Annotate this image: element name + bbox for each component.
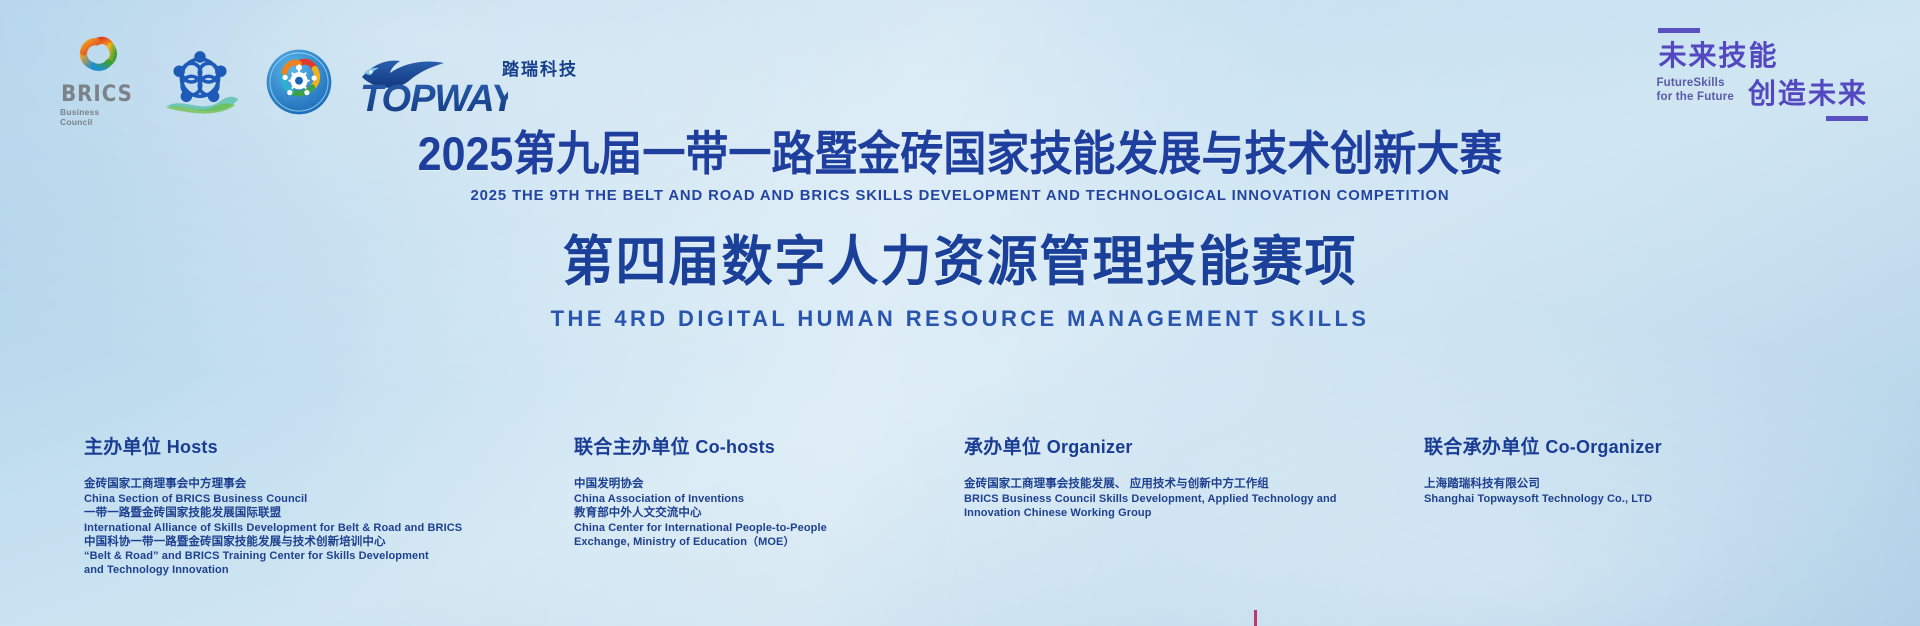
organizer-line: BRICS Business Council Skills Developmen… [964, 492, 1424, 506]
topway-logo: TOPWAY 踏瑞科技 [358, 47, 578, 117]
organizer-line: International Alliance of Skills Develop… [84, 521, 574, 535]
brics-star-icon [73, 36, 121, 82]
organizer-line: 金砖国家工商理事会技能发展、 应用技术与创新中方工作组 [964, 477, 1424, 492]
slogan-english: FutureSkills for the Future [1656, 76, 1734, 108]
organizer-line: Exchange, Ministry of Education（MOE） [574, 535, 964, 549]
sponsor-logo-row: BRICS Business Council [60, 36, 578, 127]
organizer-line: 中国发明协会 [574, 477, 964, 492]
organizer-line: “Belt & Road” and BRICS Training Center … [84, 549, 574, 563]
slogan-line-1: 未来技能 [1656, 42, 1868, 70]
organizer-column-cohosts: 联合主办单位 Co-hosts 中国发明协会 China Association… [574, 432, 964, 577]
organizer-heading-cn: 联合主办单位 [574, 437, 690, 458]
slogan-english-line-1: FutureSkills [1656, 76, 1734, 90]
organizer-heading: 承办单位 Organizer [964, 432, 1424, 459]
organizer-line: 教育部中外人文交流中心 [574, 506, 964, 521]
organizer-line: 金砖国家工商理事会中方理事会 [84, 477, 574, 492]
organizer-heading-cn: 联合承办单位 [1424, 437, 1540, 458]
organizer-heading-cn: 承办单位 [964, 437, 1041, 458]
organizer-line: China Association of Inventions [574, 492, 964, 506]
main-title-english: 2025 THE 9TH THE BELT AND ROAD AND BRICS… [10, 187, 1911, 204]
brics-wordmark: BRICS [61, 84, 133, 106]
future-skills-slogan: 未来技能 FutureSkills for the Future 创造未来 [1656, 28, 1868, 121]
organizer-heading-cn: 主办单位 [84, 437, 161, 458]
organizer-heading-en: Co-hosts [695, 437, 775, 457]
organizer-line: 一带一路暨金砖国家技能发展国际联盟 [84, 506, 574, 521]
organizer-line: China Section of BRICS Business Council [84, 492, 574, 506]
organizer-line: Shanghai Topwaysoft Technology Co., LTD [1424, 492, 1844, 506]
organizer-heading-en: Co-Organizer [1545, 437, 1661, 457]
slogan-rule-top [1658, 28, 1700, 33]
event-title-english: THE 4RD DIGITAL HUMAN RESOURCE MANAGEMEN… [0, 306, 1920, 332]
slogan-rule-bottom [1826, 116, 1868, 121]
organizer-line: 中国科协一带一路暨金砖国家技能发展与技术创新培训中心 [84, 535, 574, 550]
brics-business-council-logo: BRICS Business Council [60, 36, 134, 127]
organizer-heading-en: Hosts [167, 437, 218, 457]
organizer-columns: 主办单位 Hosts 金砖国家工商理事会中方理事会 China Section … [0, 432, 1920, 577]
main-title-chinese: 2025第九届一带一路暨金砖国家技能发展与技术创新大赛 [0, 128, 1920, 181]
organizer-column-hosts: 主办单位 Hosts 金砖国家工商理事会中方理事会 China Section … [84, 432, 574, 577]
slogan-english-line-2: for the Future [1656, 90, 1734, 104]
organizer-heading-en: Organizer [1047, 437, 1133, 457]
organizer-line: 上海踏瑞科技有限公司 [1424, 477, 1844, 492]
organizer-heading: 联合主办单位 Co-hosts [574, 432, 964, 459]
organizer-heading: 主办单位 Hosts [84, 432, 574, 459]
title-block: 2025第九届一带一路暨金砖国家技能发展与技术创新大赛 2025 THE 9TH… [0, 128, 1920, 332]
organizer-column-coorganizer: 联合承办单位 Co-Organizer 上海踏瑞科技有限公司 Shanghai … [1424, 432, 1844, 577]
topway-dragon-wordmark-icon: TOPWAY [358, 47, 508, 117]
organizer-heading: 联合承办单位 Co-Organizer [1424, 432, 1844, 459]
organizer-line: Innovation Chinese Working Group [964, 506, 1424, 520]
event-title-chinese: 第四届数字人力资源管理技能赛项 [0, 232, 1920, 291]
svg-text:TOPWAY: TOPWAY [360, 78, 508, 117]
training-center-logo [266, 49, 332, 115]
topway-chinese-name: 踏瑞科技 [502, 55, 578, 80]
organizer-column-organizer: 承办单位 Organizer 金砖国家工商理事会技能发展、 应用技术与创新中方工… [964, 432, 1424, 577]
bottom-marker [1254, 610, 1257, 626]
competition-banner: BRICS Business Council [0, 0, 1920, 626]
slogan-line-2: 创造未来 [1748, 80, 1868, 108]
organizer-line: China Center for International People-to… [574, 521, 964, 535]
brics-subtext: Business Council [60, 107, 134, 127]
skills-alliance-logo [160, 49, 240, 115]
organizer-line: and Technology Innovation [84, 563, 574, 577]
